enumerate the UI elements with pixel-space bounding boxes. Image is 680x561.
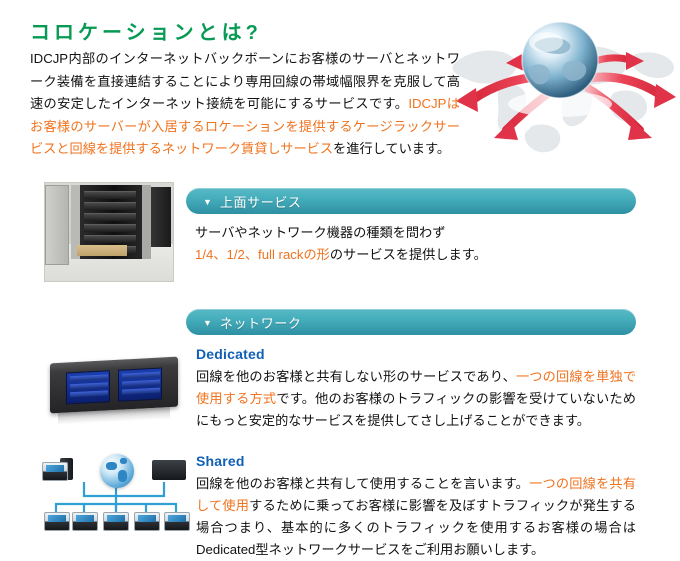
- client-node-4: [134, 512, 160, 531]
- dedicated-heading: Dedicated: [196, 346, 265, 362]
- dedicated-text-1: 回線を他のお客様と共有しない形のサービスであり、: [196, 369, 516, 384]
- client-node-3: [103, 512, 129, 531]
- chevron-down-icon: ▼: [203, 319, 212, 328]
- section-header-top-service[interactable]: ▼ 上面サービス: [186, 188, 636, 214]
- shared-body: 回線を他のお客様と共有して使用することを言います。一つの回線を共有して使用するた…: [196, 473, 636, 561]
- arrow-set: [456, 52, 676, 140]
- top-service-text-1: サーバやネットワーク機器の種類を問わず: [195, 225, 445, 240]
- globe-icon: [508, 22, 612, 117]
- intro-text-plain-1: IDCJP内部のインターネットバックボーンにお客様のサーバとネットワーク装備を直…: [30, 51, 460, 111]
- monitor-icon: [42, 462, 68, 481]
- client-node-2: [72, 512, 98, 531]
- globe-icon: [100, 454, 134, 488]
- drive-bay-left: [66, 370, 110, 404]
- server-rack-photo: [44, 182, 174, 282]
- intro-text-plain-2: を進行しています。: [333, 141, 450, 156]
- network-topology-diagram: [40, 452, 192, 548]
- section-header-label: ネットワーク: [220, 313, 302, 332]
- page-title: コロケーションとは?: [30, 16, 262, 45]
- top-service-highlight: 1/4、1/2、full rackの形: [195, 247, 330, 262]
- section-header-label: 上面サービス: [220, 192, 302, 211]
- rack-side-panel: [45, 185, 69, 265]
- dedicated-body: 回線を他のお客様と共有しない形のサービスであり、一つの回線を単独で使用する方式で…: [196, 366, 636, 432]
- chevron-down-icon: ▼: [203, 198, 212, 207]
- drive-bay-right: [118, 367, 162, 401]
- client-node-5: [164, 512, 190, 531]
- rackmount-server-photo: [46, 356, 188, 424]
- top-service-text-2: のサービスを提供します。: [330, 247, 487, 262]
- globe-world-map-arrows-graphic: [440, 8, 680, 170]
- intro-paragraph: IDCJP内部のインターネットバックボーンにお客様のサーバとネットワーク装備を直…: [30, 48, 460, 161]
- shared-heading: Shared: [196, 453, 245, 469]
- shared-text-2: するために乗ってお客様に影響を及ぼすトラフィックが発生する場合つまり、基本的に多…: [196, 498, 636, 557]
- rack-cardboard-box: [77, 245, 127, 256]
- client-node-1: [44, 512, 70, 531]
- section-header-network[interactable]: ▼ ネットワーク: [186, 309, 636, 335]
- server-chassis: [50, 357, 178, 414]
- shared-text-1: 回線を他のお客様と共有して使用することを言います。: [196, 476, 529, 491]
- network-switch-icon: [152, 460, 186, 480]
- world-map-continents: [453, 46, 674, 153]
- top-service-body: サーバやネットワーク機器の種類を問わず 1/4、1/2、full rackの形の…: [195, 222, 615, 266]
